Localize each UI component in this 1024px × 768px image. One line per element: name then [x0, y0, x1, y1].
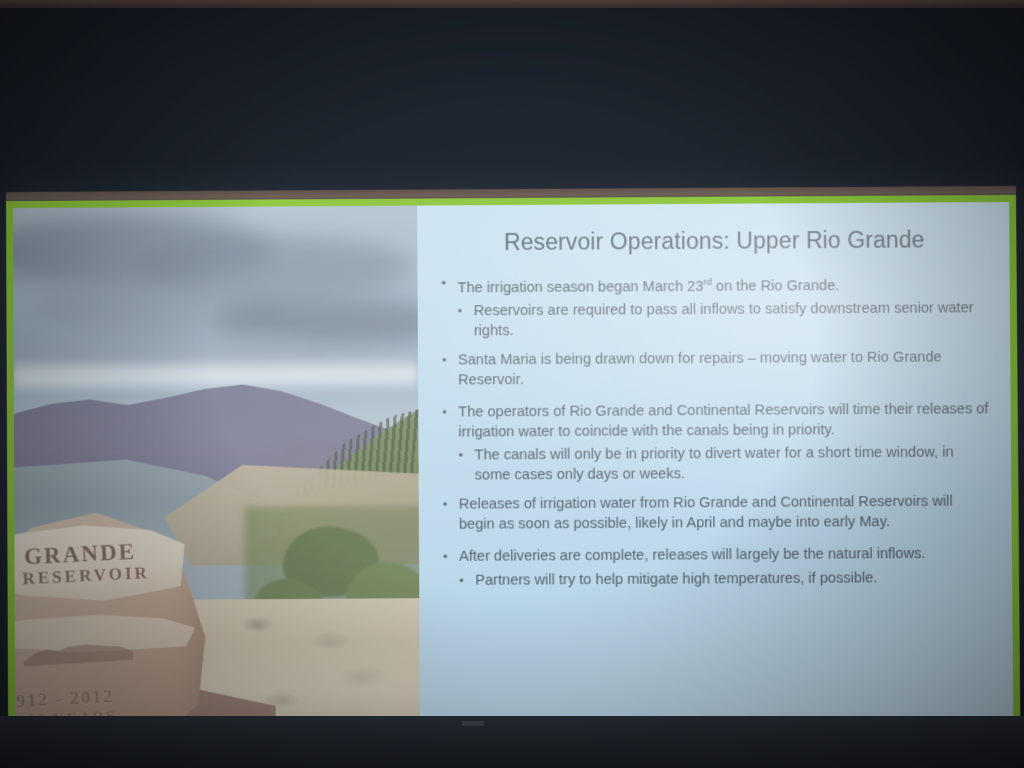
sub-bullet-list: The canals will only be in priority to d… [440, 444, 991, 486]
bullet-item: The irrigation season began March 23rd o… [439, 271, 989, 299]
bullet-item: Santa Maria is being drawn down for repa… [440, 349, 991, 391]
bullet-text-part: The irrigation season began March 23 [457, 279, 703, 297]
horizon-light-band [14, 356, 418, 393]
slide-text-panel: Reservoir Operations: Upper Rio Grande T… [417, 202, 1013, 721]
reservoir-photo: O GRANDE RESERVOIR 1912 - 2012 100 YEARS [13, 206, 420, 724]
wall-notch [462, 721, 484, 726]
slide-title: Reservoir Operations: Upper Rio Grande [439, 226, 989, 256]
bullet-list: The irrigation season began March 23rd o… [439, 271, 992, 591]
projected-slide-screenshot: O GRANDE RESERVOIR 1912 - 2012 100 YEARS… [0, 0, 1024, 768]
sub-bullet-item: Partners will try to help mitigate high … [441, 568, 992, 591]
sub-bullet-item: The canals will only be in priority to d… [440, 444, 991, 486]
bullet-item: Releases of irrigation water from Rio Gr… [441, 493, 992, 535]
sub-bullet-list: Partners will try to help mitigate high … [441, 568, 992, 591]
bullet-item: The operators of Rio Grande and Continen… [440, 401, 991, 443]
room-lower-wall [0, 716, 1024, 768]
slide-green-border: O GRANDE RESERVOIR 1912 - 2012 100 YEARS… [6, 195, 1020, 730]
bullet-item: After deliveries are complete, releases … [441, 545, 992, 568]
slide-content: O GRANDE RESERVOIR 1912 - 2012 100 YEARS… [13, 202, 1013, 723]
bullet-text-part: on the Rio Grande. [712, 278, 840, 295]
presentation-slide[interactable]: O GRANDE RESERVOIR 1912 - 2012 100 YEARS… [6, 195, 1020, 730]
sub-bullet-item: Reservoirs are required to pass all infl… [440, 299, 991, 341]
sub-bullet-list: Reservoirs are required to pass all infl… [440, 299, 991, 341]
